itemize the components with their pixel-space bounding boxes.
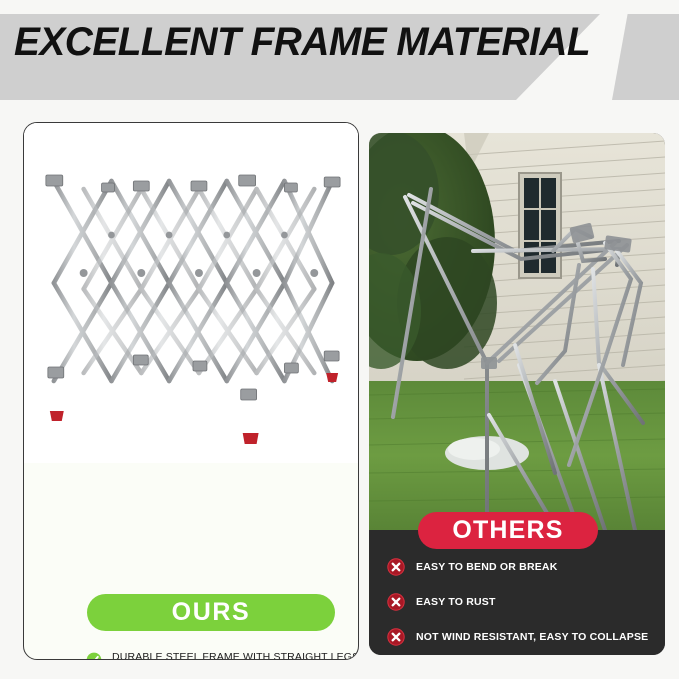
ours-feature-list: DURABLE STEEL FRAME WITH STRAIGHT LEGS, …	[86, 651, 359, 660]
ours-product-photo	[24, 123, 358, 463]
ours-badge: OURS	[87, 594, 335, 631]
others-badge: OTHERS	[418, 512, 598, 549]
ours-feature-text: DURABLE STEEL FRAME WITH STRAIGHT LEGS, …	[112, 651, 359, 660]
list-item: NOT WIND RESISTANT, EASY TO COLLAPSE	[387, 628, 659, 646]
others-card: OTHERS EASY TO BEND OR BREAK EASY	[369, 133, 665, 655]
ours-card: OURS DURABLE STEEL FRAME WITH STRAIGHT L…	[23, 122, 359, 660]
list-item: DURABLE STEEL FRAME WITH STRAIGHT LEGS, …	[86, 651, 359, 660]
x-circle-icon	[387, 558, 405, 576]
check-circle-icon	[86, 652, 102, 660]
others-product-photo	[369, 133, 665, 530]
others-drawback-list: EASY TO BEND OR BREAK EASY TO RUST N	[387, 558, 659, 655]
x-circle-icon	[387, 628, 405, 646]
list-item: EASY TO RUST	[387, 593, 659, 611]
x-circle-icon	[387, 593, 405, 611]
page-title: EXCELLENT FRAME MATERIAL	[14, 20, 590, 65]
others-badge-label: OTHERS	[452, 518, 563, 543]
ours-badge-label: OURS	[172, 600, 251, 625]
header-band-accent	[612, 14, 679, 100]
others-drawback-text: EASY TO RUST	[416, 596, 496, 608]
others-drawback-text: NOT WIND RESISTANT, EASY TO COLLAPSE	[416, 631, 648, 643]
list-item: EASY TO BEND OR BREAK	[387, 558, 659, 576]
others-drawback-text: EASY TO BEND OR BREAK	[416, 561, 558, 573]
